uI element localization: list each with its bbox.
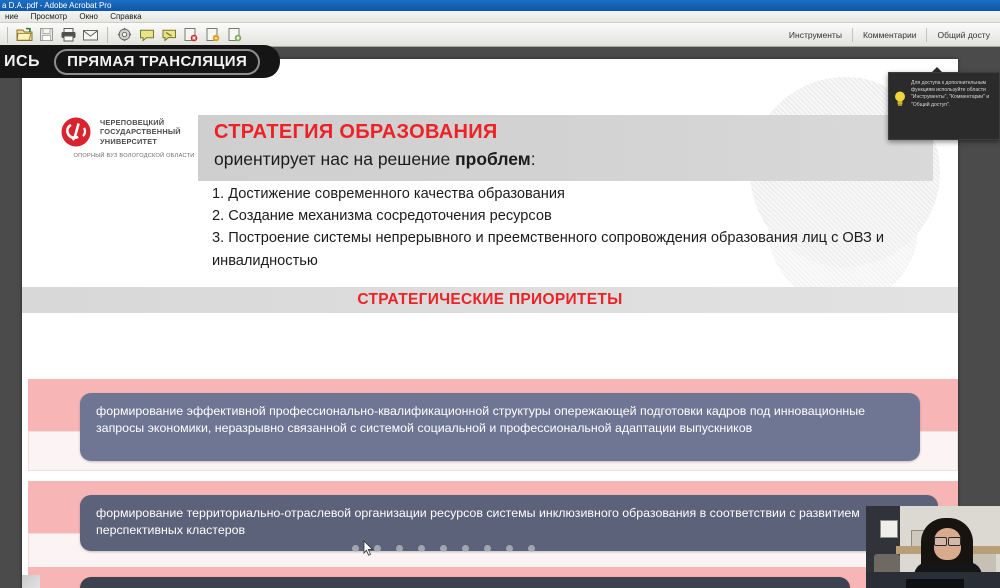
priority-box: обеспечение условий для эффективной соци… (80, 577, 850, 588)
pip-picture-frame (880, 520, 898, 538)
toolbar-left-group (0, 25, 244, 44)
dot (396, 545, 403, 552)
recording-label: ИСЬ (4, 53, 40, 71)
tab-comments[interactable]: Комментарии (853, 23, 927, 46)
pdf-viewer-area[interactable]: ЧЕРЕПОВЕЦКИЙ ГОСУДАРСТВЕННЫЙ УНИВЕРСИТЕТ… (0, 47, 1000, 588)
problems-list: 1. Достижение современного качества обра… (212, 183, 912, 272)
slide-subtitle: ориентирует нас на решение проблем: (214, 149, 536, 170)
print-icon[interactable] (59, 25, 78, 44)
webcam-video-thumbnail[interactable] (866, 506, 1000, 588)
dot (440, 545, 447, 552)
page-edit-icon[interactable] (203, 25, 222, 44)
tooltip-text: Для доступа к дополнительным функциям ис… (911, 80, 994, 109)
menu-item-window[interactable]: Окно (74, 11, 103, 21)
pip-person-glasses-icon (934, 537, 961, 544)
live-stream-pill: ПРЯМАЯ ТРАНСЛЯЦИЯ (54, 49, 260, 75)
mouse-cursor-icon (363, 540, 374, 556)
slide-title: СТРАТЕГИЯ ОБРАЗОВАНИЯ (214, 121, 498, 144)
tab-share[interactable]: Общий досту (927, 23, 1000, 46)
menu-bar[interactable]: ние Просмотр Окно Справка (0, 11, 1000, 23)
logo-row: ЧЕРЕПОВЕЦКИЙ ГОСУДАРСТВЕННЫЙ УНИВЕРСИТЕТ (60, 116, 208, 148)
page-delete-icon[interactable] (181, 25, 200, 44)
window-title: а D.А..pdf - Adobe Acrobat Pro (2, 1, 111, 10)
priority-box: формирование эффективной профессионально… (80, 393, 920, 461)
acrobat-window: а D.А..pdf - Adobe Acrobat Pro ние Просм… (0, 0, 1000, 588)
logo-mark-icon (60, 116, 94, 148)
toolbar-divider (107, 27, 108, 43)
dot (462, 545, 469, 552)
logo-line-1: ЧЕРЕПОВЕЦКИЙ (100, 118, 181, 127)
menu-item-help[interactable]: Справка (105, 11, 146, 21)
menu-item-edit[interactable]: ние (0, 11, 23, 21)
logo-text: ЧЕРЕПОВЕЦКИЙ ГОСУДАРСТВЕННЫЙ УНИВЕРСИТЕТ (100, 118, 181, 145)
subtitle-plain: ориентирует нас на решение (214, 149, 455, 169)
pip-laptop (906, 579, 964, 588)
dot (418, 545, 425, 552)
dot (352, 545, 359, 552)
live-broadcast-banner: ИСЬ ПРЯМАЯ ТРАНСЛЯЦИЯ (0, 45, 280, 78)
pdf-page: ЧЕРЕПОВЕЦКИЙ ГОСУДАРСТВЕННЫЙ УНИВЕРСИТЕТ… (22, 59, 958, 588)
corner-wedge (22, 575, 40, 588)
menu-item-view[interactable]: Просмотр (26, 11, 73, 21)
save-file-icon[interactable] (37, 25, 56, 44)
subtitle-tail: : (531, 149, 536, 169)
dot (484, 545, 491, 552)
settings-gear-icon[interactable] (115, 25, 134, 44)
main-toolbar: Инструменты Комментарии Общий досту (0, 23, 1000, 47)
slide-canvas: ЧЕРЕПОВЕЦКИЙ ГОСУДАРСТВЕННЫЙ УНИВЕРСИТЕТ… (22, 59, 958, 588)
tools-tooltip: Для доступа к дополнительным функциям ис… (888, 72, 1000, 140)
dot (528, 545, 535, 552)
logo-subtitle: ОПОРНЫЙ ВУЗ ВОЛОГОДСКОЙ ОБЛАСТИ (60, 153, 208, 159)
open-file-icon[interactable] (15, 25, 34, 44)
progress-dots (352, 543, 552, 553)
page-export-icon[interactable] (225, 25, 244, 44)
university-logo: ЧЕРЕПОВЕЦКИЙ ГОСУДАРСТВЕННЫЙ УНИВЕРСИТЕТ… (60, 116, 208, 159)
sticky-note-icon[interactable] (137, 25, 156, 44)
dot (374, 545, 381, 552)
window-title-bar: а D.А..pdf - Adobe Acrobat Pro (0, 0, 1000, 11)
list-item: 3. Построение системы непрерывного и пре… (212, 227, 912, 271)
logo-line-3: УНИВЕРСИТЕТ (100, 137, 181, 146)
toolbar-divider (7, 27, 8, 43)
toolbar-right-tabs: Инструменты Комментарии Общий досту (779, 23, 1000, 46)
subtitle-bold: проблем (455, 149, 531, 169)
logo-line-2: ГОСУДАРСТВЕННЫЙ (100, 127, 181, 136)
lightbulb-icon (893, 90, 907, 107)
dot (506, 545, 513, 552)
email-icon[interactable] (81, 25, 100, 44)
priorities-heading: СТРАТЕГИЧЕСКИЕ ПРИОРИТЕТЫ (22, 291, 958, 309)
tab-tools[interactable]: Инструменты (779, 23, 852, 46)
highlight-icon[interactable] (159, 25, 178, 44)
list-item: 1. Достижение современного качества обра… (212, 183, 912, 205)
list-item: 2. Создание механизма сосредоточения рес… (212, 205, 912, 227)
